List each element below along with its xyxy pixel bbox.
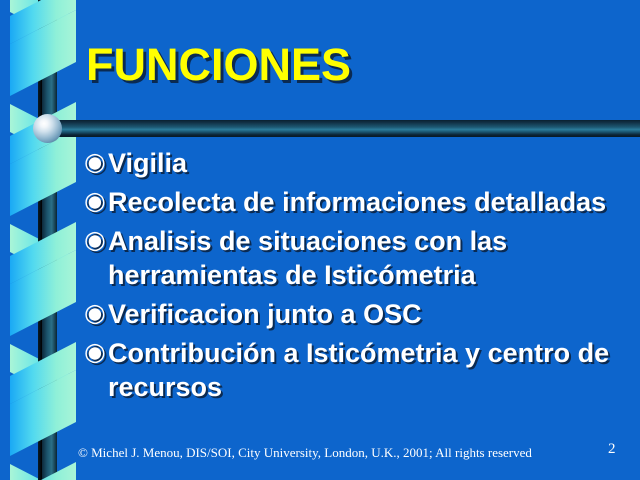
list-item-text: Verificacion junto a OSC <box>108 296 640 331</box>
bullseye-bullet-icon: ◉ <box>84 223 108 257</box>
list-item: ◉ Contribución a Isticómetria y centro d… <box>84 335 640 404</box>
page-title: FUNCIONES <box>86 38 626 92</box>
footer-copyright: © Michel J. Menou, DIS/SOI, City Univers… <box>78 445 532 461</box>
bullseye-bullet-icon: ◉ <box>84 296 108 330</box>
list-item-text: Recolecta de informaciones detalladas <box>108 184 640 219</box>
slide-canvas: FUNCIONES ◉ Vigilia ◉ Recolecta de infor… <box>0 0 640 480</box>
bullseye-bullet-icon: ◉ <box>84 184 108 218</box>
list-item: ◉ Analisis de situaciones con las herram… <box>84 223 640 292</box>
bullseye-bullet-icon: ◉ <box>84 145 108 179</box>
title-divider-bar <box>44 120 640 137</box>
divider-bead-icon <box>33 114 62 143</box>
bullseye-bullet-icon: ◉ <box>84 335 108 369</box>
helix-ribbon-decoration <box>0 0 84 480</box>
list-item: ◉ Verificacion junto a OSC <box>84 296 640 331</box>
bullet-list: ◉ Vigilia ◉ Recolecta de informaciones d… <box>84 145 640 408</box>
list-item: ◉ Vigilia <box>84 145 640 180</box>
list-item: ◉ Recolecta de informaciones detalladas <box>84 184 640 219</box>
list-item-text: Analisis de situaciones con las herramie… <box>108 223 640 292</box>
page-number: 2 <box>608 441 616 458</box>
list-item-text: Contribución a Isticómetria y centro de … <box>108 335 640 404</box>
list-item-text: Vigilia <box>108 145 640 180</box>
helix-ribbon-icon <box>0 0 84 480</box>
